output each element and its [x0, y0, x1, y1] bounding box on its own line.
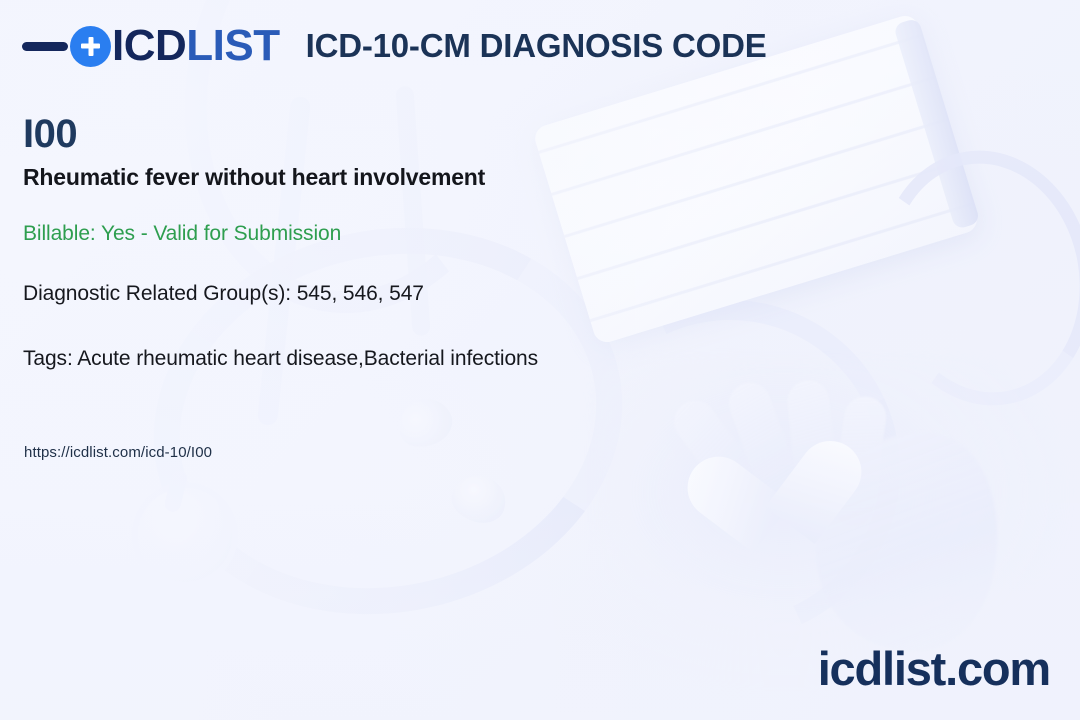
plus-circle-icon — [70, 26, 111, 67]
dash-icon — [22, 42, 68, 51]
tags-list: Tags: Acute rheumatic heart disease,Bact… — [23, 346, 538, 371]
diagnosis-code: I00 — [23, 112, 77, 156]
source-url[interactable]: https://icdlist.com/icd-10/I00 — [24, 444, 212, 462]
icdlist-logo[interactable]: ICDLIST — [22, 24, 280, 68]
page-header: ICDLIST ICD-10-CM DIAGNOSIS CODE — [22, 24, 767, 68]
card-content: ICDLIST ICD-10-CM DIAGNOSIS CODE I00 Rhe… — [0, 0, 1080, 720]
icd-code-card: ICDLIST ICD-10-CM DIAGNOSIS CODE I00 Rhe… — [0, 0, 1080, 720]
diagnostic-related-groups: Diagnostic Related Group(s): 545, 546, 5… — [23, 281, 424, 306]
logo-wordmark: ICDLIST — [112, 24, 280, 68]
page-title: ICD-10-CM DIAGNOSIS CODE — [306, 29, 767, 64]
logo-text-list: LIST — [186, 21, 279, 70]
footer-brand: icdlist.com — [818, 645, 1050, 692]
diagnosis-description: Rheumatic fever without heart involvemen… — [23, 164, 485, 192]
logo-text-icd: ICD — [112, 21, 186, 70]
billable-status: Billable: Yes - Valid for Submission — [23, 221, 341, 246]
